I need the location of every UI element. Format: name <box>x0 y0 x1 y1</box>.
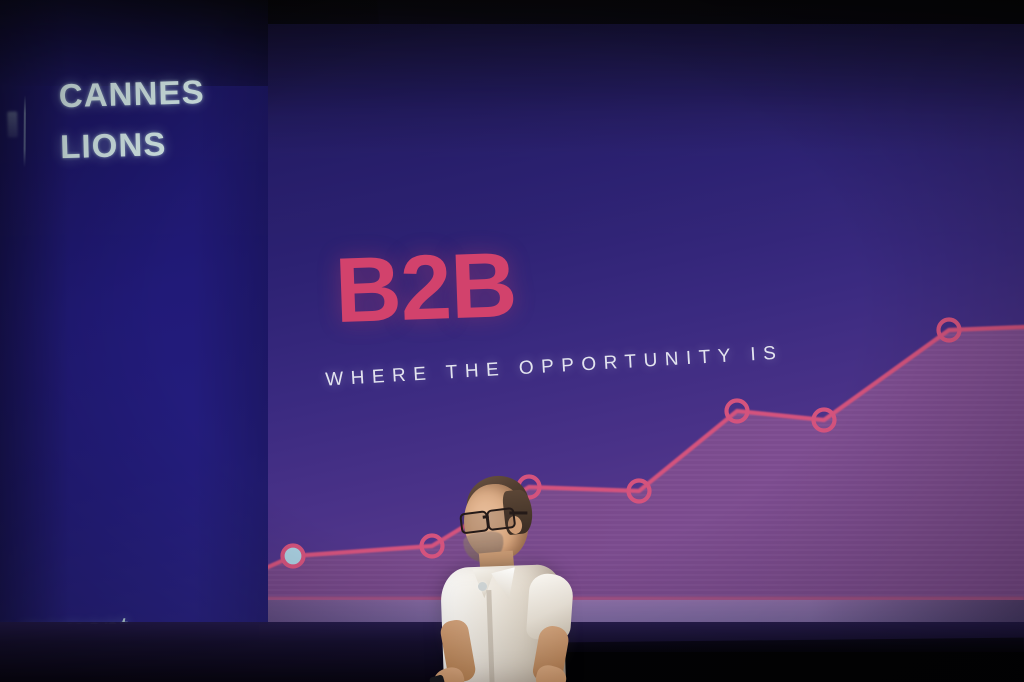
cannes-lions-logo: CANNES LIONS <box>22 65 252 71</box>
glasses-lens-left <box>459 510 489 534</box>
brand-line-2: LIONS <box>59 117 206 172</box>
lion-mark-icon <box>7 111 18 137</box>
brand-line-1: CANNES <box>58 66 205 121</box>
logo-divider <box>23 95 26 167</box>
slide-b2b-panel: B2B WHERE THE OPPORTUNITY IS <box>259 24 1024 624</box>
chart-marker <box>629 481 650 502</box>
slide-cannes-panel: CANNES LIONS ur moment. <box>0 0 268 624</box>
slide-subheadline: WHERE THE OPPORTUNITY IS <box>325 342 784 391</box>
chart-marker <box>283 546 304 567</box>
brand-wordmark: CANNES LIONS <box>58 66 207 172</box>
lapel-microphone <box>478 582 487 591</box>
slide-headline: B2B <box>333 239 517 337</box>
chart-marker <box>939 320 960 341</box>
chart-marker <box>727 401 748 422</box>
speaker-figure <box>408 470 588 682</box>
stage-scene: B2B WHERE THE OPPORTUNITY IS CANNES LION… <box>0 0 1024 682</box>
slide-top-shading <box>259 24 1024 154</box>
presentation-clicker <box>429 674 445 682</box>
slide-cannes-top-shading <box>0 0 268 86</box>
glasses-arm <box>509 511 527 514</box>
chart-marker <box>814 410 835 431</box>
stage-floor-front <box>528 652 1024 682</box>
